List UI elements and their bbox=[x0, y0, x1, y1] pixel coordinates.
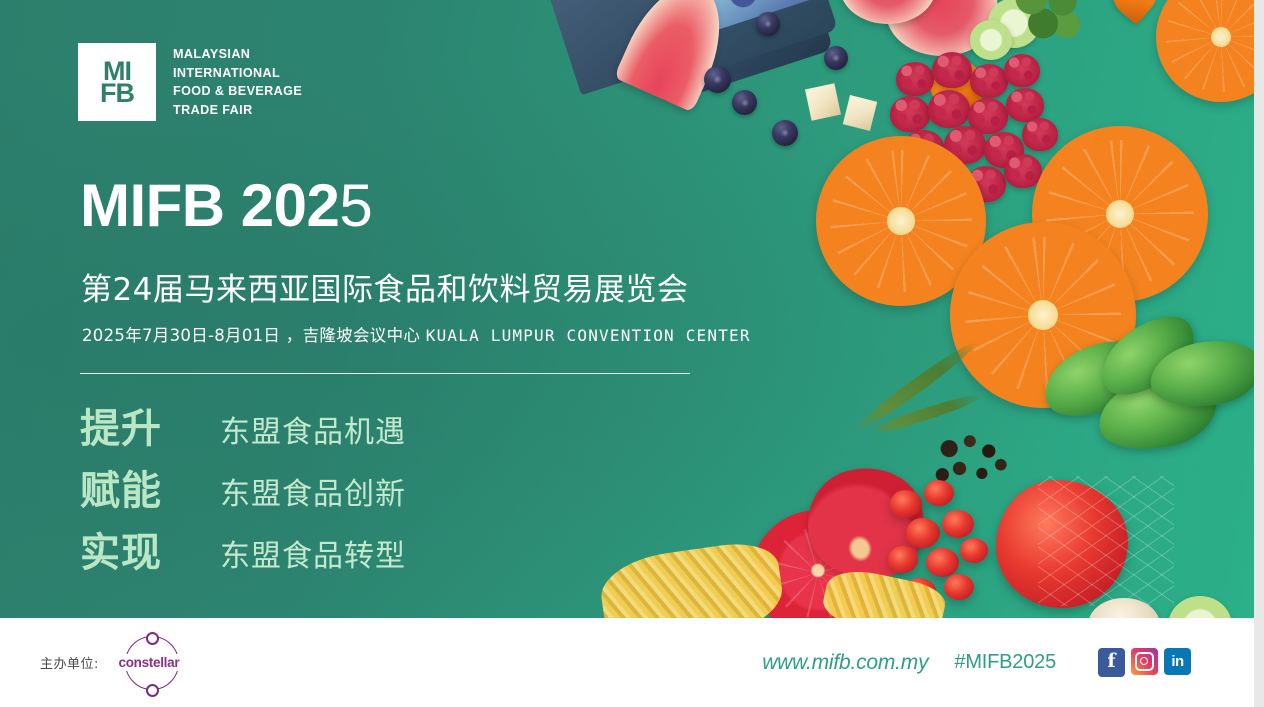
rosemary-sprig-icon bbox=[867, 390, 985, 438]
event-dateline: 2025年7月30日-8月01日 ，吉隆坡会议中心 KUALA LUMPUR C… bbox=[82, 322, 751, 346]
event-venue-text: KUALA LUMPUR CONVENTION CENTER bbox=[426, 326, 751, 345]
mifb-logo-wordmark: MALAYSIAN INTERNATIONAL FOOD & BEVERAGE … bbox=[173, 45, 302, 119]
headline-light-text: 5 bbox=[339, 172, 372, 239]
carrot-curl-icon bbox=[1103, 0, 1165, 25]
pasta-fusilli-icon bbox=[597, 538, 788, 618]
raspberry-icon bbox=[928, 90, 970, 128]
cucumber-slice-icon bbox=[988, 0, 1040, 48]
blueberry-icon bbox=[732, 90, 757, 115]
tomato-wedge-icon bbox=[796, 456, 936, 593]
blueberry-icon bbox=[772, 120, 798, 146]
diced-pepper-icon bbox=[924, 480, 954, 506]
event-date-text: 2025年7月30日-8月01日 ，吉隆坡会议中心 bbox=[82, 326, 420, 345]
logo-line-international: INTERNATIONAL bbox=[173, 64, 302, 83]
diced-pepper-icon bbox=[906, 518, 940, 548]
network-overlay-graphic bbox=[1038, 476, 1174, 606]
diced-pepper-icon bbox=[888, 546, 918, 573]
blueberry-icon bbox=[824, 46, 848, 70]
diced-pepper-icon bbox=[960, 538, 988, 563]
organiser-block: 主办单位: constellar bbox=[40, 632, 183, 694]
red-pepper-icon bbox=[996, 480, 1128, 608]
diced-pepper-icon bbox=[926, 548, 959, 577]
raspberry-icon bbox=[904, 130, 944, 166]
raspberry-icon bbox=[984, 132, 1024, 168]
instagram-glyph bbox=[1135, 652, 1154, 671]
mifb-logo-monogram: MI FB bbox=[100, 60, 134, 104]
slogan-list: 提升 东盟食品机遇 赋能 东盟食品创新 实现 东盟食品转型 bbox=[80, 396, 406, 582]
slogan-value: 东盟食品机遇 bbox=[220, 407, 406, 451]
headline-main-text: MIFB 202 bbox=[80, 172, 339, 239]
mifb-logo-mark: MI FB bbox=[78, 43, 156, 121]
raspberry-icon bbox=[1004, 54, 1040, 87]
slogan-row: 赋能 东盟食品创新 bbox=[80, 458, 406, 520]
green-pepper-icon bbox=[1088, 302, 1208, 410]
diced-pepper-icon bbox=[944, 574, 974, 600]
mifb-monogram-line-2: FB bbox=[100, 82, 134, 104]
event-headline: MIFB 2025 bbox=[80, 176, 372, 236]
orange-slice-icon bbox=[816, 136, 986, 306]
orange-slice-icon bbox=[1032, 126, 1208, 302]
orange-slice-icon bbox=[950, 222, 1136, 408]
blueberry-icon bbox=[704, 66, 731, 93]
mifb-logo[interactable]: MI FB MALAYSIAN INTERNATIONAL FOOD & BEV… bbox=[78, 43, 302, 121]
cheese-cube-icon bbox=[843, 95, 877, 131]
food-collage-image bbox=[540, 0, 1254, 618]
headline-divider bbox=[80, 373, 690, 374]
packaging-box-icon bbox=[626, 0, 833, 105]
footer-links: www.mifb.com.my #MIFB2025 f in bbox=[762, 648, 1191, 677]
linkedin-glyph: in bbox=[1171, 653, 1183, 670]
raspberry-icon bbox=[1004, 154, 1042, 188]
facebook-icon[interactable]: f bbox=[1098, 648, 1125, 677]
raspberry-icon bbox=[928, 162, 966, 196]
constellar-dot-top-icon bbox=[146, 632, 159, 645]
raspberry-icon bbox=[968, 98, 1008, 134]
fig-half-icon bbox=[840, 0, 936, 24]
raspberry-icon bbox=[884, 168, 918, 199]
slogan-value: 东盟食品转型 bbox=[220, 531, 406, 575]
raspberry-icon bbox=[890, 96, 930, 132]
page-root: MI FB MALAYSIAN INTERNATIONAL FOOD & BEV… bbox=[0, 0, 1264, 707]
raspberry-icon bbox=[896, 62, 934, 96]
cucumber-slice-icon bbox=[970, 20, 1012, 60]
green-pepper-icon bbox=[1034, 328, 1161, 430]
event-banner: MI FB MALAYSIAN INTERNATIONAL FOOD & BEV… bbox=[0, 0, 1254, 618]
slogan-row: 提升 东盟食品机遇 bbox=[80, 396, 406, 458]
raspberry-icon bbox=[1022, 118, 1058, 151]
packaging-lid-icon bbox=[646, 0, 838, 81]
raspberry-icon bbox=[966, 166, 1006, 202]
diced-pepper-icon bbox=[942, 510, 974, 538]
slogan-value: 东盟食品创新 bbox=[220, 469, 406, 513]
green-pepper-icon bbox=[1092, 366, 1224, 459]
blueberry-icon bbox=[756, 12, 780, 36]
mushroom-icon bbox=[1088, 598, 1160, 618]
fig-half-icon bbox=[886, 0, 998, 56]
constellar-logo[interactable]: constellar bbox=[115, 632, 183, 694]
fig-wedge-icon bbox=[614, 0, 741, 112]
social-links: f in bbox=[1098, 648, 1191, 677]
facebook-glyph: f bbox=[1107, 652, 1115, 671]
logo-line-trade-fair: TRADE FAIR bbox=[173, 101, 302, 120]
constellar-dot-bottom-icon bbox=[146, 684, 159, 697]
constellar-wordmark: constellar bbox=[115, 654, 183, 671]
page-footer: 主办单位: constellar www.mifb.com.my #MIFB20… bbox=[0, 618, 1254, 707]
packaging-label bbox=[544, 0, 693, 95]
orange-slice-icon bbox=[1156, 0, 1254, 102]
organiser-label: 主办单位: bbox=[40, 653, 99, 672]
logo-line-malaysian: MALAYSIAN bbox=[173, 45, 302, 64]
slogan-key: 赋能 bbox=[80, 458, 220, 516]
linkedin-icon[interactable]: in bbox=[1164, 648, 1191, 675]
green-pepper-icon bbox=[1146, 335, 1254, 414]
website-link[interactable]: www.mifb.com.my bbox=[762, 651, 928, 675]
raspberry-icon bbox=[944, 126, 986, 164]
slogan-key: 提升 bbox=[80, 396, 220, 454]
raspberry-icon bbox=[970, 64, 1008, 98]
parsley-icon bbox=[1008, 0, 1086, 42]
lime-slice-icon bbox=[1168, 596, 1232, 618]
carrot-curl-icon bbox=[930, 60, 982, 112]
slogan-row: 实现 东盟食品转型 bbox=[80, 520, 406, 582]
pasta-fusilli-icon bbox=[819, 564, 948, 618]
raspberry-icon bbox=[932, 52, 972, 88]
rosemary-sprig-icon bbox=[850, 337, 980, 436]
packaging-photo bbox=[660, 0, 825, 41]
tomato-half-icon bbox=[752, 510, 884, 618]
raspberry-icon bbox=[1006, 88, 1044, 122]
cheese-cube-icon bbox=[805, 83, 841, 121]
instagram-icon[interactable] bbox=[1131, 648, 1158, 675]
logo-line-food-beverage: FOOD & BEVERAGE bbox=[173, 82, 302, 101]
peppercorns-icon bbox=[932, 430, 1018, 492]
diced-pepper-icon bbox=[890, 490, 922, 518]
event-subtitle: 第24届马来西亚国际食品和饮料贸易展览会 bbox=[81, 264, 688, 309]
hashtag-label: #MIFB2025 bbox=[954, 651, 1056, 674]
slogan-key: 实现 bbox=[80, 520, 220, 578]
diced-pepper-icon bbox=[904, 578, 936, 606]
